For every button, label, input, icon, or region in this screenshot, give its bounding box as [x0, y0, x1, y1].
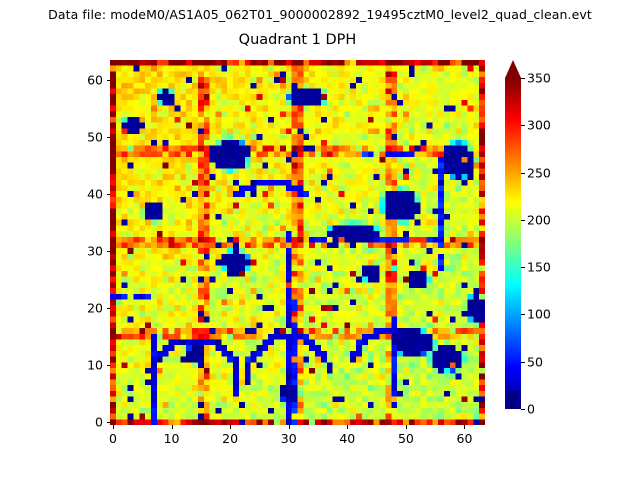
x-tick-label: 40	[339, 431, 355, 446]
colorbar-tick-mark	[521, 267, 525, 268]
colorbar-tick-label: 150	[527, 260, 551, 275]
colorbar-tick-mark	[521, 314, 525, 315]
colorbar-tick-mark	[521, 220, 525, 221]
y-tick-label: 50	[70, 129, 103, 144]
y-tick-label: 20	[70, 301, 103, 316]
colorbar-tick-mark	[521, 409, 525, 410]
colorbar-over-arrow	[505, 60, 521, 78]
y-tick-label: 10	[70, 358, 103, 373]
x-tick-label: 10	[164, 431, 180, 446]
colorbar-tick-label: 250	[527, 165, 551, 180]
colorbar-tick-mark	[521, 362, 525, 363]
colorbar-tick-mark	[521, 173, 525, 174]
x-tick-mark	[113, 425, 114, 429]
x-tick-label: 0	[109, 431, 117, 446]
colorbar[interactable]	[505, 60, 521, 426]
x-tick-mark	[347, 425, 348, 429]
x-tick-mark	[172, 425, 173, 429]
colorbar-tick-label: 100	[527, 307, 551, 322]
colorbar-tick-label: 0	[527, 402, 535, 417]
colorbar-under-arrow	[505, 391, 521, 409]
x-tick-label: 60	[457, 431, 473, 446]
data-file-label: Data file: modeM0/AS1A05_062T01_90000028…	[0, 7, 640, 22]
colorbar-tick-mark	[521, 78, 525, 79]
dph-heatmap-image[interactable]	[110, 60, 485, 425]
y-tick-label: 30	[70, 244, 103, 259]
colorbar-tick-label: 350	[527, 71, 551, 86]
y-tick-mark	[107, 365, 111, 366]
colorbar-tick-label: 50	[527, 354, 543, 369]
colorbar-gradient	[505, 78, 521, 409]
colorbar-tick-label: 200	[527, 212, 551, 227]
y-tick-mark	[107, 194, 111, 195]
y-tick-label: 0	[70, 415, 103, 430]
x-tick-mark	[406, 425, 407, 429]
colorbar-tick-mark	[521, 125, 525, 126]
heatmap-axes[interactable]	[110, 60, 485, 425]
y-tick-mark	[107, 137, 111, 138]
figure-canvas: Data file: modeM0/AS1A05_062T01_90000028…	[0, 0, 640, 480]
y-tick-mark	[107, 80, 111, 81]
x-tick-mark	[289, 425, 290, 429]
x-tick-label: 50	[398, 431, 414, 446]
x-tick-label: 30	[281, 431, 297, 446]
x-tick-mark	[464, 425, 465, 429]
x-tick-label: 20	[222, 431, 238, 446]
y-tick-label: 60	[70, 72, 103, 87]
y-tick-mark	[107, 422, 111, 423]
y-tick-label: 40	[70, 187, 103, 202]
plot-title: Quadrant 1 DPH	[110, 32, 485, 48]
y-tick-mark	[107, 251, 111, 252]
y-tick-mark	[107, 308, 111, 309]
x-tick-mark	[230, 425, 231, 429]
colorbar-tick-label: 300	[527, 118, 551, 133]
